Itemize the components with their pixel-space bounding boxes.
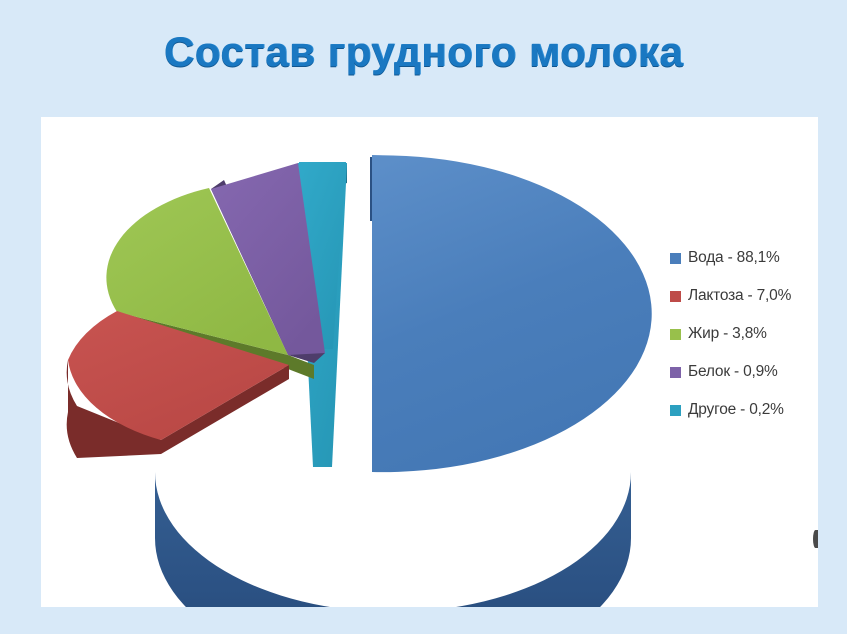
legend-swatch-drugoe	[670, 405, 681, 416]
edge-clipped-glyph	[813, 530, 818, 548]
legend-swatch-zhir	[670, 329, 681, 340]
legend-item-voda[interactable]: Вода - 88,1%	[670, 239, 830, 277]
legend-label-voda: Вода - 88,1%	[688, 249, 780, 267]
legend-item-zhir[interactable]: Жир - 3,8%	[670, 315, 830, 353]
legend-label-drugoe: Другое - 0,2%	[688, 401, 784, 419]
legend-item-laktoza[interactable]: Лактоза - 7,0%	[670, 277, 830, 315]
legend-item-drugoe[interactable]: Другое - 0,2%	[670, 391, 830, 429]
slide-canvas: Состав грудного молока	[0, 0, 847, 634]
legend-label-laktoza: Лактоза - 7,0%	[688, 287, 791, 305]
legend-label-belok: Белок - 0,9%	[688, 363, 778, 381]
chart-legend: Вода - 88,1% Лактоза - 7,0% Жир - 3,8% Б…	[670, 239, 830, 429]
legend-label-zhir: Жир - 3,8%	[688, 325, 767, 343]
chart-panel: Вода - 88,1% Лактоза - 7,0% Жир - 3,8% Б…	[41, 117, 818, 607]
legend-swatch-belok	[670, 367, 681, 378]
pie-slice-voda-top	[372, 155, 652, 472]
legend-swatch-voda	[670, 253, 681, 264]
legend-swatch-laktoza	[670, 291, 681, 302]
page-title: Состав грудного молока	[0, 28, 847, 76]
legend-item-belok[interactable]: Белок - 0,9%	[670, 353, 830, 391]
pie-slice-voda-side	[155, 472, 631, 607]
